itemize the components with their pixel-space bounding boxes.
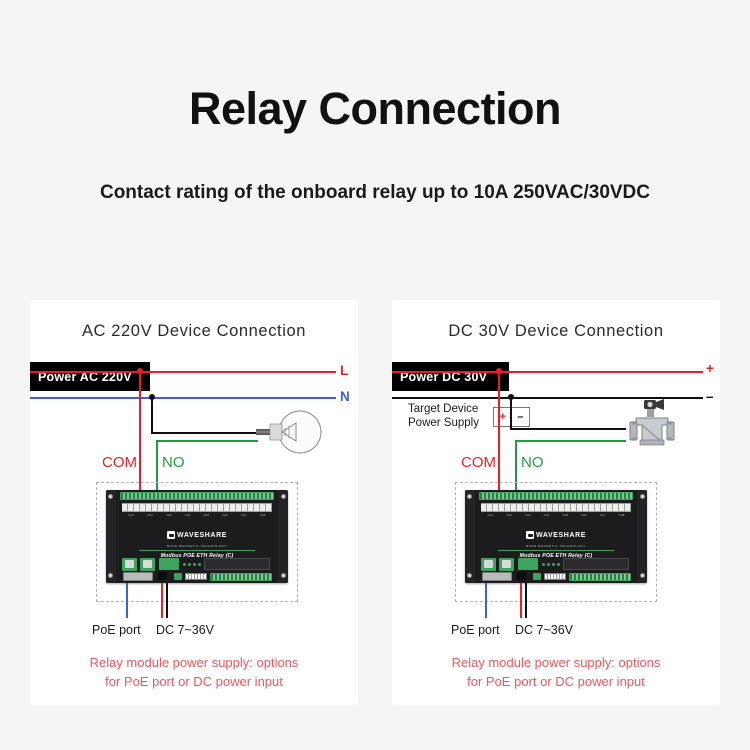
dc-board-branding: WAVESHARE MAKE MAGNETIC TECHNOLOGY Modbu… <box>465 526 647 559</box>
ac-relay-board: CH1 CH2 CH3 CH4 CH5 CH6 CH7 CH8 WAVESHAR… <box>106 490 288 583</box>
panel-ac-title: AC 220V Device Connection <box>30 322 358 341</box>
channel-label: CH7 <box>600 514 606 517</box>
dc-power-terminal <box>518 558 538 570</box>
ac-power-source-bar: Power AC 220V <box>30 362 150 391</box>
status-led <box>183 563 186 566</box>
board-screw <box>108 573 113 578</box>
channel-label: CH4 <box>185 514 191 517</box>
dc-note-line-2: for PoE port or DC power input <box>392 673 720 692</box>
dc-valve-negative-drop <box>510 397 512 430</box>
ac-dc-negative-cable <box>166 583 168 618</box>
ac-com-label: COM <box>102 455 137 470</box>
light-bulb-icon <box>256 410 328 463</box>
dc-positive-label: + <box>706 362 714 376</box>
dc-reset-button <box>517 572 526 580</box>
dc-dc-negative-cable <box>525 583 527 618</box>
dc-supply-caption-line-2: Power Supply <box>408 416 479 430</box>
channel-label: CH7 <box>241 514 247 517</box>
status-led <box>198 563 201 566</box>
solenoid-valve-icon <box>622 396 684 459</box>
channel-label: CH5 <box>562 514 568 517</box>
dc-valve-negative-run <box>510 428 626 430</box>
brand-tagline: MAKE MAGNETIC TECHNOLOGY <box>465 545 647 548</box>
dc-note-line-1: Relay module power supply: options <box>392 654 720 673</box>
channel-label: CH2 <box>147 514 153 517</box>
dc-supply-caption: Target Device Power Supply <box>408 402 479 431</box>
dc-relay-board: CH1 CH2 CH3 CH4 CH5 CH6 CH7 CH8 WAVESHAR… <box>465 490 647 583</box>
channel-label: CH5 <box>203 514 209 517</box>
dc-relay-output-terminal-strip <box>479 492 633 500</box>
board-screw <box>640 573 645 578</box>
ac-io-header <box>204 558 270 570</box>
ac-status-leds <box>183 563 201 566</box>
dc-input-terminal-strip <box>569 573 631 581</box>
ac-dc-input-label: DC 7~36V <box>156 624 214 637</box>
dc-rj45-port-2 <box>499 558 514 571</box>
ac-note-line-2: for PoE port or DC power input <box>30 673 358 692</box>
dc-status-leds <box>542 563 560 566</box>
channel-label: CH3 <box>525 514 531 517</box>
ac-no-wire-run <box>156 440 258 442</box>
brand-rule <box>139 550 255 551</box>
ac-live-wire <box>30 371 336 373</box>
dc-no-wire-run <box>515 440 626 442</box>
dc-dc-positive-cable <box>520 583 522 618</box>
page-title: Relay Connection <box>0 86 750 131</box>
board-screw <box>281 494 286 499</box>
panel-ac-connection: AC 220V Device Connection Power AC 220V … <box>30 300 358 705</box>
waveshare-mark-icon <box>526 531 534 539</box>
dc-usb-port <box>482 572 512 581</box>
dc-relay-screw-terminal-row <box>481 503 631 512</box>
dc-dc-input-label: DC 7~36V <box>515 624 573 637</box>
ac-poe-port-label: PoE port <box>92 624 141 637</box>
channel-label: CH8 <box>260 514 266 517</box>
ac-live-label: L <box>340 364 348 378</box>
ac-power-terminal <box>159 558 179 570</box>
dc-no-label: NO <box>521 455 544 470</box>
ac-no-label: NO <box>162 455 185 470</box>
ac-bulb-neutral-run <box>151 432 258 434</box>
dc-com-label: COM <box>461 455 496 470</box>
ac-rj45-port-2 <box>140 558 155 571</box>
waveshare-logo: WAVESHARE <box>167 531 227 539</box>
ac-note-line-1: Relay module power supply: options <box>30 654 358 673</box>
channel-label: CH1 <box>487 514 493 517</box>
ac-channel-labels: CH1 CH2 CH3 CH4 CH5 CH6 CH7 CH8 <box>122 514 272 517</box>
ac-input-terminal-strip <box>210 573 272 581</box>
status-led <box>193 563 196 566</box>
status-led <box>188 563 191 566</box>
board-screw <box>108 494 113 499</box>
ac-rs485-terminal <box>174 573 182 580</box>
status-led <box>557 563 560 566</box>
channel-label: CH8 <box>619 514 625 517</box>
dc-poe-port-label: PoE port <box>451 624 500 637</box>
dc-io-header <box>563 558 629 570</box>
channel-label: CH1 <box>128 514 134 517</box>
status-led <box>542 563 545 566</box>
dc-channel-labels: CH1 CH2 CH3 CH4 CH5 CH6 CH7 CH8 <box>481 514 631 517</box>
ac-dip-switch <box>185 573 207 580</box>
ac-dc-positive-cable <box>161 583 163 618</box>
panel-dc-connection: DC 30V Device Connection Power DC 30V + … <box>392 300 720 705</box>
brand-rule <box>498 550 614 551</box>
board-screw <box>467 573 472 578</box>
ac-neutral-wire <box>30 397 336 399</box>
status-led <box>552 563 555 566</box>
ac-poe-cable <box>126 583 128 618</box>
dc-dip-switch <box>544 573 566 580</box>
dc-poe-cable <box>485 583 487 618</box>
page-subtitle: Contact rating of the onboard relay up t… <box>0 182 750 204</box>
waveshare-mark-icon <box>167 531 175 539</box>
channel-label: CH6 <box>222 514 228 517</box>
dc-rs485-terminal <box>533 573 541 580</box>
ac-bulb-neutral-drop <box>151 397 153 433</box>
ac-board-branding: WAVESHARE MAKE MAGNETIC TECHNOLOGY Modbu… <box>106 526 288 559</box>
brand-name: WAVESHARE <box>177 532 227 539</box>
panel-dc-title: DC 30V Device Connection <box>392 322 720 341</box>
ac-relay-screw-terminal-row <box>122 503 272 512</box>
channel-label: CH2 <box>506 514 512 517</box>
status-led <box>547 563 550 566</box>
ac-neutral-label: N <box>340 390 350 404</box>
dc-negative-label: – <box>706 390 714 404</box>
channel-label: CH4 <box>544 514 550 517</box>
ac-reset-button <box>158 572 167 580</box>
dc-power-source-bar: Power DC 30V <box>392 362 509 391</box>
waveshare-logo: WAVESHARE <box>526 531 586 539</box>
brand-name: WAVESHARE <box>536 532 586 539</box>
ac-relay-output-terminal-strip <box>120 492 274 500</box>
board-screw <box>281 573 286 578</box>
board-screw <box>640 494 645 499</box>
dc-supply-minus: – <box>517 412 523 423</box>
board-screw <box>467 494 472 499</box>
dc-positive-wire <box>392 371 703 373</box>
dc-supply-plus: + <box>500 412 506 423</box>
ac-rj45-port-1 <box>122 558 137 571</box>
channel-label: CH3 <box>166 514 172 517</box>
channel-label: CH6 <box>581 514 587 517</box>
dc-rj45-port-1 <box>481 558 496 571</box>
ac-usb-port <box>123 572 153 581</box>
dc-supply-caption-line-1: Target Device <box>408 402 479 416</box>
dc-com-wire <box>498 371 500 493</box>
brand-tagline: MAKE MAGNETIC TECHNOLOGY <box>106 545 288 548</box>
ac-com-wire <box>139 371 141 493</box>
